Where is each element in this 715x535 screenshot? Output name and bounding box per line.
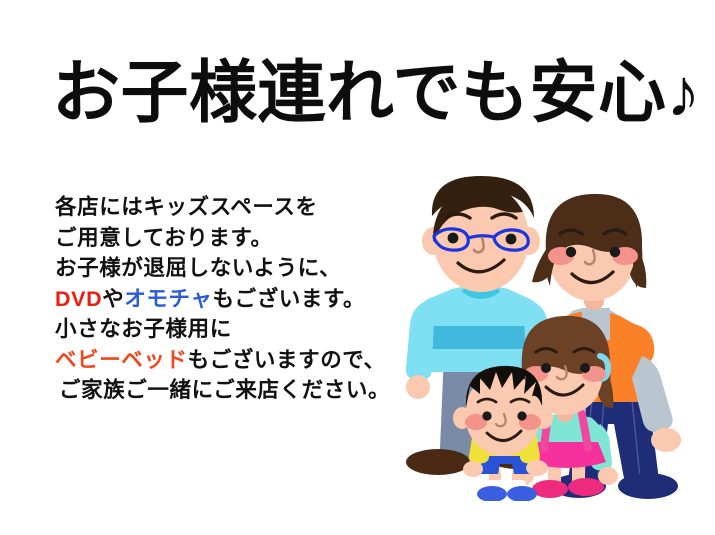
boy-right-hand bbox=[526, 460, 548, 476]
father-left-eye bbox=[448, 233, 459, 244]
body-line-6: ベビーベッドもございますので、 bbox=[55, 345, 400, 376]
body-line-4-tail: もございます。 bbox=[213, 287, 366, 311]
highlight-dvd: DVD bbox=[55, 287, 102, 311]
girl-left-shoe bbox=[532, 480, 568, 498]
girl-right-shoe bbox=[568, 478, 604, 496]
body-line-7: ご家族ご一緒にご来店ください。 bbox=[55, 375, 400, 406]
family-illustration bbox=[396, 156, 715, 501]
father-left-arm bbox=[406, 302, 434, 380]
father-left-shoe bbox=[406, 449, 470, 475]
mother-right-hand bbox=[651, 428, 681, 452]
body-line-3: お子様が退屈しないように、 bbox=[55, 253, 400, 284]
highlight-baby-bed: ベビーベッド bbox=[55, 348, 188, 372]
body-line-6-tail: もございますので、 bbox=[188, 348, 386, 372]
body-line-4: DVDやオモチャもございます。 bbox=[55, 284, 400, 315]
father-right-eye bbox=[506, 234, 517, 245]
page-title: お子様連れでも安心♪ bbox=[52, 47, 692, 139]
girl-left-eye bbox=[541, 363, 551, 373]
body-copy-block: 各店にはキッズスペースを ご用意しております。 お子様が退屈しないように、 DV… bbox=[55, 192, 400, 406]
boy-left-hand bbox=[463, 461, 483, 477]
body-line-2: ご用意しております。 bbox=[55, 223, 400, 254]
girl-right-hand bbox=[598, 467, 618, 485]
body-line-4-connector: や bbox=[102, 287, 124, 311]
father-shirt-stripe bbox=[416, 326, 542, 349]
mother-right-eye bbox=[610, 247, 620, 257]
boy-left-eye bbox=[482, 411, 491, 420]
highlight-toys: オモチャ bbox=[124, 287, 212, 311]
poster-canvas: お子様連れでも安心♪ 各店にはキッズスペースを ご用意しております。 お子様が退… bbox=[0, 0, 715, 535]
boy-left-shoe bbox=[477, 486, 507, 501]
boy-right-eye bbox=[517, 411, 526, 420]
girl-right-eye bbox=[580, 363, 590, 373]
mother-right-shoe bbox=[618, 473, 678, 499]
father-left-hand bbox=[406, 375, 430, 399]
mother-left-eye bbox=[566, 247, 576, 257]
body-line-1: 各店にはキッズスペースを bbox=[55, 192, 400, 223]
body-line-5: 小さなお子様用に bbox=[55, 314, 400, 345]
